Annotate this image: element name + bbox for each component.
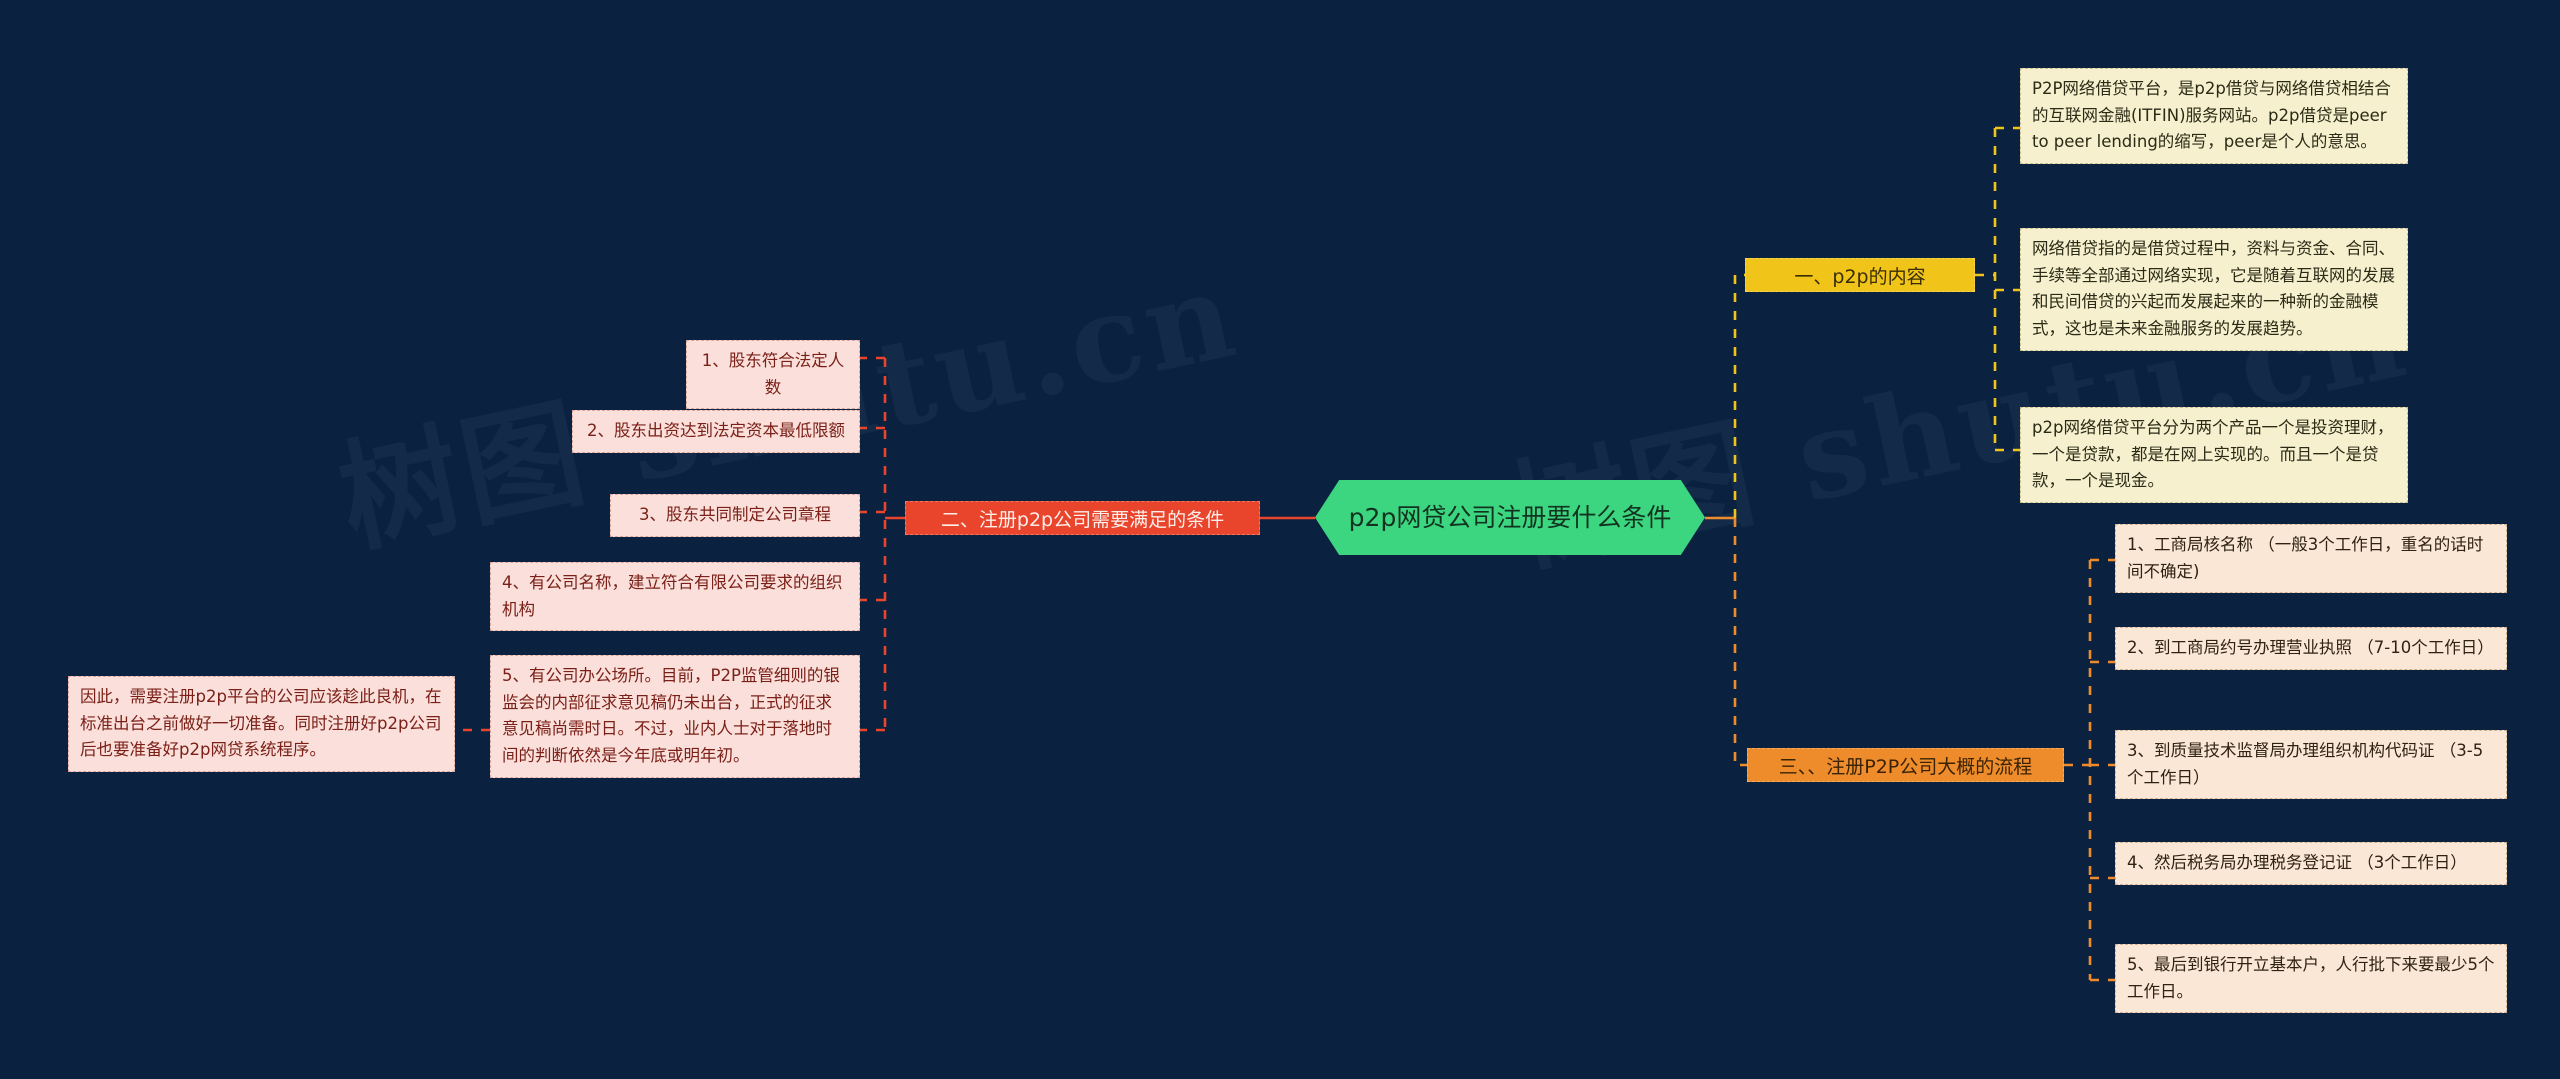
leaf-cond-1[interactable]: 1、股东符合法定人数 xyxy=(686,340,860,409)
leaf-cond-5[interactable]: 5、有公司办公场所。目前，P2P监管细则的银监会的内部征求意见稿仍未出台，正式的… xyxy=(490,655,860,778)
leaf-content-1[interactable]: P2P网络借贷平台，是p2p借贷与网络借贷相结合的互联网金融(ITFIN)服务网… xyxy=(2020,68,2408,164)
branch-heading-one[interactable]: 一、p2p的内容 xyxy=(1745,258,1975,292)
leaf-content-2[interactable]: 网络借贷指的是借贷过程中，资料与资金、合同、手续等全部通过网络实现，它是随着互联… xyxy=(2020,228,2408,351)
leaf-step-4[interactable]: 4、然后税务局办理税务登记证 （3个工作日） xyxy=(2115,842,2507,885)
leaf-cond-4[interactable]: 4、有公司名称，建立符合有限公司要求的组织机构 xyxy=(490,562,860,631)
leaf-content-3[interactable]: p2p网络借贷平台分为两个产品一个是投资理财，一个是贷款，都是在网上实现的。而且… xyxy=(2020,407,2408,503)
leaf-step-5[interactable]: 5、最后到银行开立基本户，人行批下来要最少5个工作日。 xyxy=(2115,944,2507,1013)
leaf-step-3[interactable]: 3、到质量技术监督局办理组织机构代码证 （3-5个工作日） xyxy=(2115,730,2507,799)
leaf-cond-2[interactable]: 2、股东出资达到法定资本最低限额 xyxy=(572,410,860,453)
leaf-step-1[interactable]: 1、工商局核名称 （一般3个工作日，重名的话时间不确定) xyxy=(2115,524,2507,593)
mindmap-canvas: 树图 shutu.cn 树图 shutu.cn xyxy=(0,0,2560,1079)
branch-heading-three[interactable]: 三、、注册P2P公司大概的流程 xyxy=(1747,748,2064,782)
leaf-cond-3[interactable]: 3、股东共同制定公司章程 xyxy=(610,494,860,537)
branch-heading-two[interactable]: 二、注册p2p公司需要满足的条件 xyxy=(905,501,1260,535)
leaf-cond-5-note[interactable]: 因此，需要注册p2p平台的公司应该趁此良机，在标准出台之前做好一切准备。同时注册… xyxy=(68,676,455,772)
leaf-step-2[interactable]: 2、到工商局约号办理营业执照 （7-10个工作日） xyxy=(2115,627,2507,670)
center-node[interactable]: p2p网贷公司注册要什么条件 xyxy=(1315,480,1705,555)
